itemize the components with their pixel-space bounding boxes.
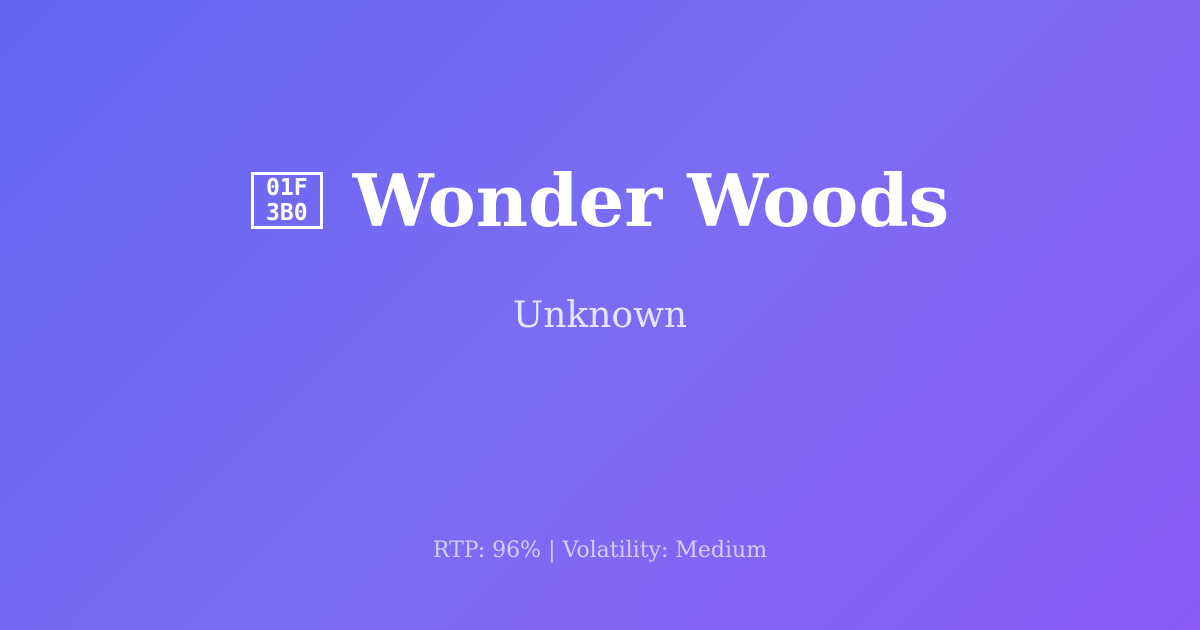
footer-meta: RTP: 96% | Volatility: Medium	[0, 538, 1200, 564]
provider-subtitle: Unknown	[513, 238, 687, 337]
og-share-card: 01F 3B0 Wonder Woods Unknown RTP: 96% | …	[0, 0, 1200, 630]
hero-block: 01F 3B0 Wonder Woods Unknown	[0, 0, 1200, 500]
game-stats-line: RTP: 96% | Volatility: Medium	[433, 538, 767, 563]
slot-machine-icon: 01F 3B0	[251, 172, 323, 229]
tofu-codepoint-top: 01F	[266, 176, 308, 201]
tofu-codepoint-bottom: 3B0	[266, 201, 308, 226]
title-row: 01F 3B0 Wonder Woods	[251, 163, 949, 239]
page-title: Wonder Woods	[353, 163, 949, 239]
